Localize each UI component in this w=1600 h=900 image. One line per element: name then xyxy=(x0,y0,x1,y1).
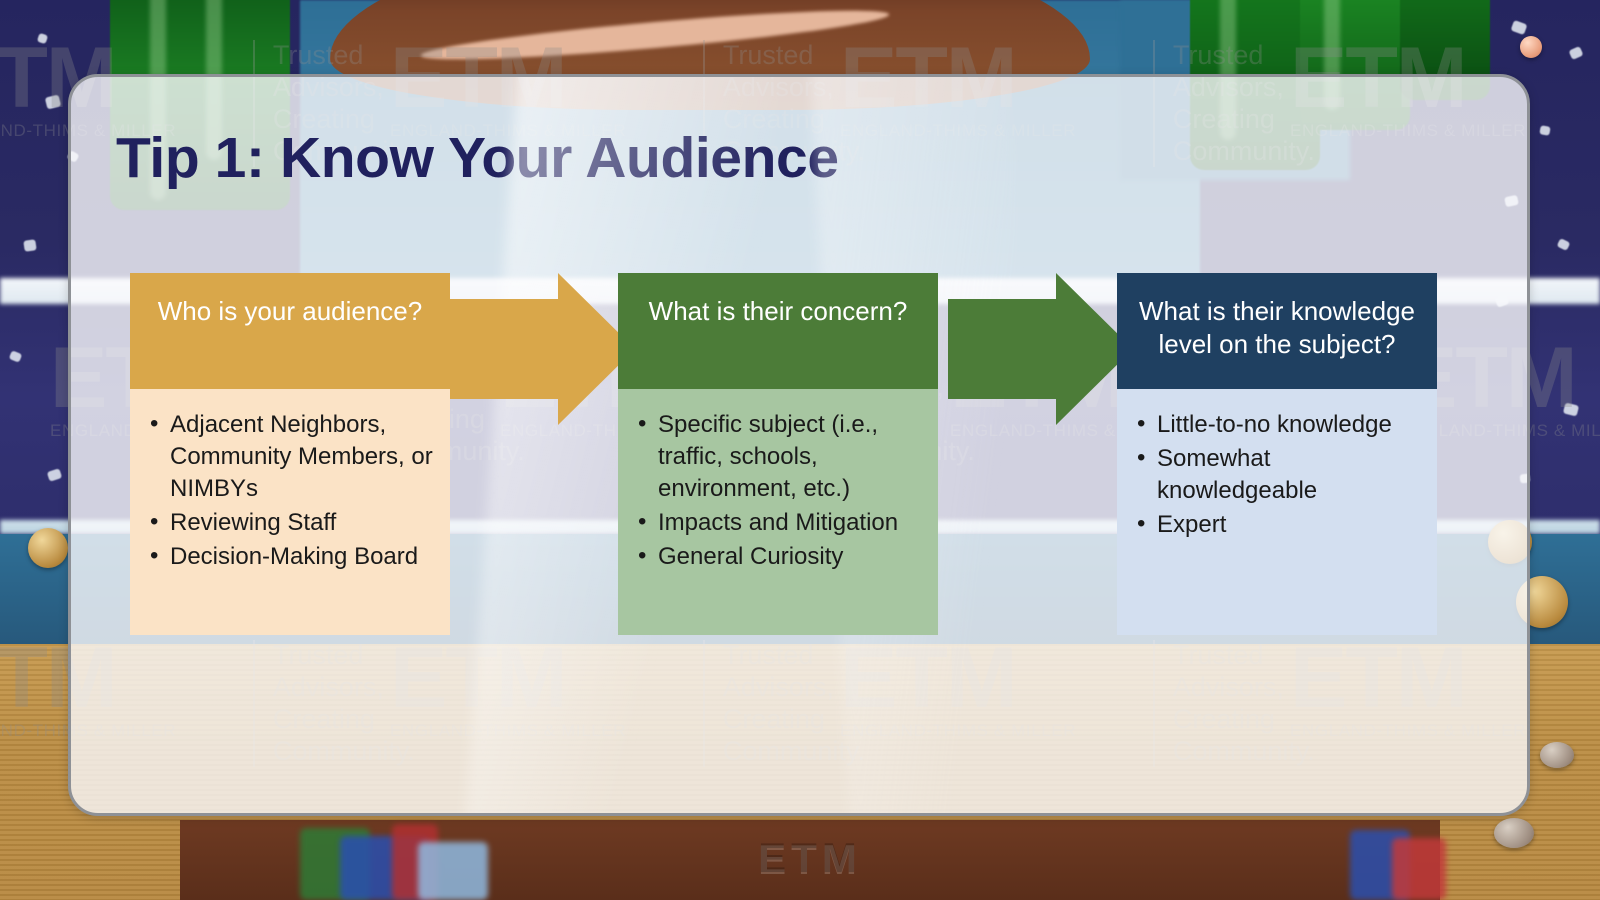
column-header-knowledge: What is their knowledge level on the sub… xyxy=(1117,273,1437,389)
bullet-list-concern: Specific subject (i.e., traffic, schools… xyxy=(636,409,924,573)
process-flow: Who is your audience? Adjacent Neighbors… xyxy=(71,77,1527,813)
list-item: Decision-Making Board xyxy=(148,541,436,573)
snow-fleck xyxy=(23,239,36,252)
ornament-peach xyxy=(1520,36,1542,58)
list-item: Reviewing Staff xyxy=(148,507,436,539)
ornament-gold-left xyxy=(28,528,68,568)
process-column-audience: Who is your audience? Adjacent Neighbors… xyxy=(130,273,450,635)
bullet-list-knowledge: Little-to-no knowledge Somewhat knowledg… xyxy=(1135,409,1423,541)
list-item: Impacts and Mitigation xyxy=(636,507,924,539)
list-item: Specific subject (i.e., traffic, schools… xyxy=(636,409,924,505)
column-body-knowledge: Little-to-no knowledge Somewhat knowledg… xyxy=(1117,389,1437,635)
column-body-concern: Specific subject (i.e., traffic, schools… xyxy=(618,389,938,635)
list-item: Little-to-no knowledge xyxy=(1135,409,1423,441)
process-column-knowledge: What is their knowledge level on the sub… xyxy=(1117,273,1437,635)
etm-wood-logo: ETM xyxy=(758,834,862,882)
bullet-list-audience: Adjacent Neighbors, Community Members, o… xyxy=(148,409,436,573)
list-item: Somewhat knowledgeable xyxy=(1135,443,1423,507)
column-header-audience: Who is your audience? xyxy=(130,273,450,389)
process-column-concern: What is their concern? Specific subject … xyxy=(618,273,938,635)
ornament-stone-2 xyxy=(1494,818,1534,848)
column-body-audience: Adjacent Neighbors, Community Members, o… xyxy=(130,389,450,635)
arrow-gold xyxy=(450,273,635,425)
list-item: General Curiosity xyxy=(636,541,924,573)
brush-red-right xyxy=(1392,838,1446,900)
arrow-gold-shape xyxy=(450,273,635,425)
list-item: Expert xyxy=(1135,509,1423,541)
brush-lightblue xyxy=(418,842,488,900)
ornament-stone-1 xyxy=(1540,742,1574,768)
arrow-green-shape xyxy=(948,273,1133,425)
list-item: Adjacent Neighbors, Community Members, o… xyxy=(148,409,436,505)
snow-fleck xyxy=(1539,125,1550,136)
column-header-concern: What is their concern? xyxy=(618,273,938,389)
arrow-green xyxy=(948,273,1133,425)
slide-card: Tip 1: Know Your Audience Who is your au… xyxy=(68,74,1530,816)
